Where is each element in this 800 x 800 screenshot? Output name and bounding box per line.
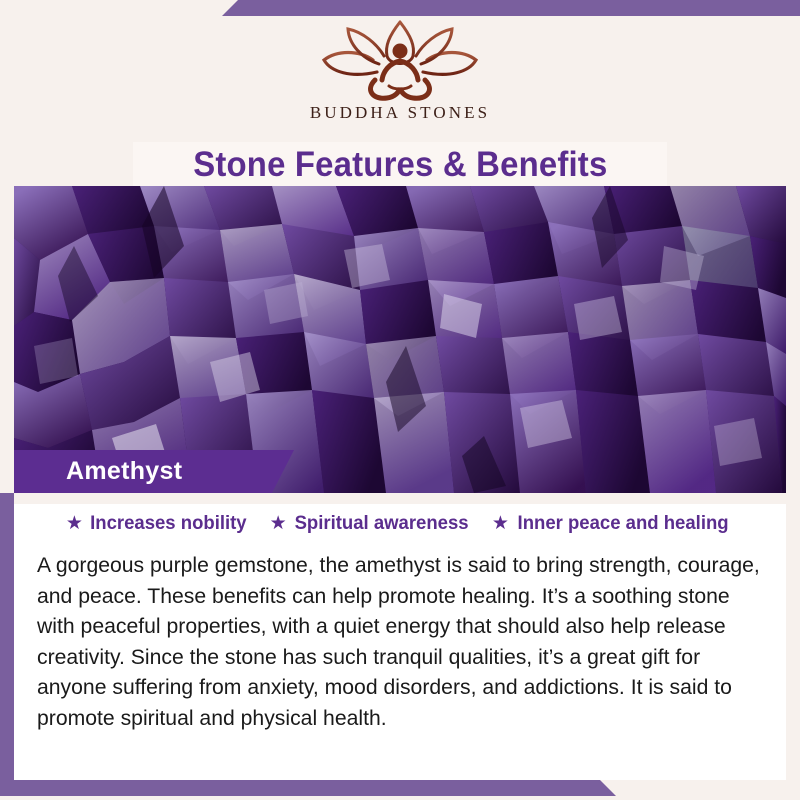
star-icon: ★ <box>492 514 509 533</box>
frame-right-band-upper <box>786 0 800 16</box>
benefit-item: ★ Inner peace and healing <box>492 512 734 535</box>
infographic-card: BUDDHA STONES Stone Features & Benefits <box>0 0 800 800</box>
lotus-meditation-icon <box>315 16 485 102</box>
benefit-label: Increases nobility <box>90 512 246 535</box>
frame-top-band <box>222 0 800 16</box>
stone-photo <box>14 186 786 493</box>
stone-name: Amethyst <box>66 450 182 493</box>
title-banner: Stone Features & Benefits <box>133 142 667 187</box>
benefit-label: Inner peace and healing <box>517 512 728 535</box>
page-title: Stone Features & Benefits <box>193 145 607 185</box>
stone-name-ribbon: Amethyst <box>14 450 294 493</box>
benefit-item: ★ Spiritual awareness <box>270 512 473 535</box>
benefit-label: Spiritual awareness <box>294 512 468 535</box>
frame-left-band <box>0 493 14 794</box>
brand-header: BUDDHA STONES <box>0 16 800 142</box>
brand-name: BUDDHA STONES <box>310 103 490 123</box>
star-icon: ★ <box>66 514 83 533</box>
benefit-item: ★ Increases nobility <box>66 512 251 535</box>
content-panel: ★ Increases nobility ★ Spiritual awarene… <box>14 493 786 780</box>
star-icon: ★ <box>270 514 287 533</box>
stone-description: A gorgeous purple gemstone, the amethyst… <box>37 550 761 733</box>
panel-top-strip <box>14 493 786 504</box>
frame-bottom-band <box>0 780 616 796</box>
benefits-list: ★ Increases nobility ★ Spiritual awarene… <box>14 512 786 535</box>
